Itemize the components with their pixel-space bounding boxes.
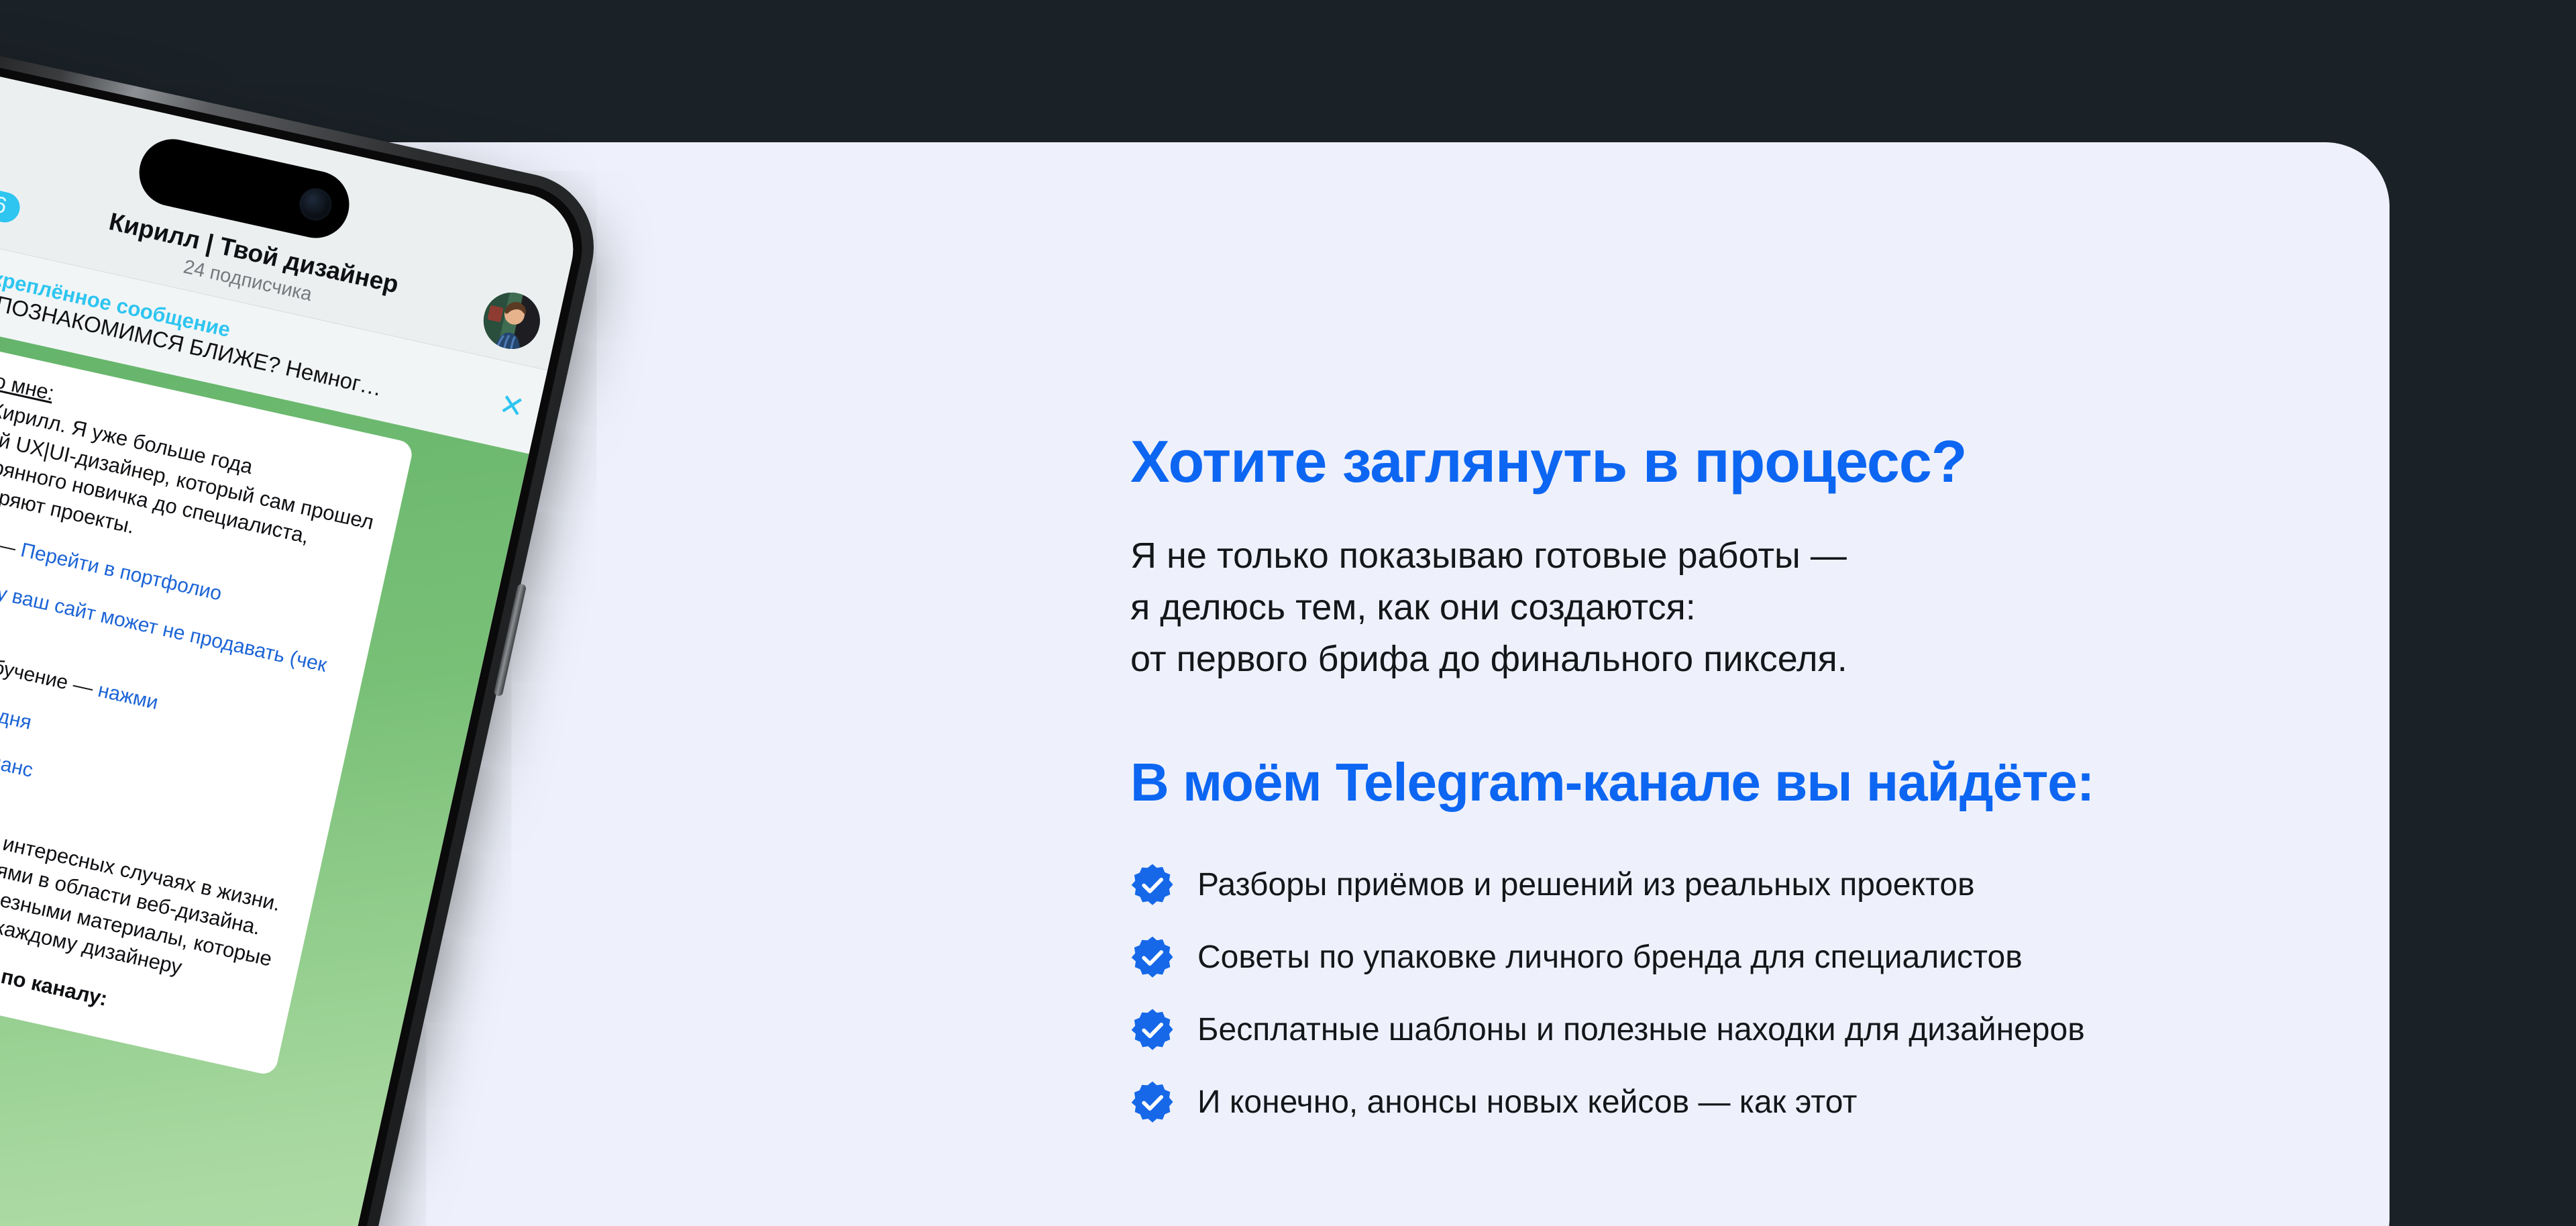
verified-check-icon [1130, 1080, 1175, 1125]
screenshot-root: Хотите заглянуть в процесс? Я не только … [0, 0, 2576, 1226]
promo-content: Хотите заглянуть в процесс? Я не только … [1130, 431, 2390, 1150]
benefits-list: Разборы приёмов и решений из реальных пр… [1130, 860, 2390, 1127]
list-item-label: Советы по упаковке личного бренда для сп… [1197, 941, 2023, 974]
section-heading: В моём Telegram-канале вы найдёте: [1130, 754, 2390, 811]
verified-check-icon [1130, 1008, 1175, 1052]
verified-check-icon [1130, 935, 1175, 980]
list-item-label: И конечно, анонсы новых кейсов — как это… [1197, 1086, 1857, 1119]
page-title: Хотите заглянуть в процесс? [1130, 431, 2390, 493]
avatar[interactable] [478, 287, 545, 354]
lead-line-2: я делюсь тем, как они создаются: [1130, 582, 2390, 633]
list-item: И конечно, анонсы новых кейсов — как это… [1130, 1078, 2390, 1127]
lead-line-3: от первого брифа до финального пикселя. [1130, 633, 2390, 685]
list-item-label: Бесплатные шаблоны и полезные находки дл… [1197, 1014, 2085, 1046]
chat-message-bubble: Немного обо мне: Меня зовут Кирилл. Я уж… [0, 323, 415, 1076]
list-item: Советы по упаковке личного бренда для сп… [1130, 933, 2390, 982]
lead-paragraph: Я не только показываю готовые работы — я… [1130, 530, 2390, 684]
lead-line-1: Я не только показываю готовые работы — [1130, 530, 2390, 582]
close-icon[interactable]: ✕ [496, 389, 527, 423]
list-item: Бесплатные шаблоны и полезные находки дл… [1130, 1005, 2390, 1055]
list-item-label: Разборы приёмов и решений из реальных пр… [1197, 869, 1975, 901]
link-text[interactable]: нажми [96, 679, 160, 714]
verified-check-icon [1130, 863, 1175, 907]
avatar-illustration [478, 287, 545, 354]
list-item: Разборы приёмов и решений из реальных пр… [1130, 860, 2390, 910]
